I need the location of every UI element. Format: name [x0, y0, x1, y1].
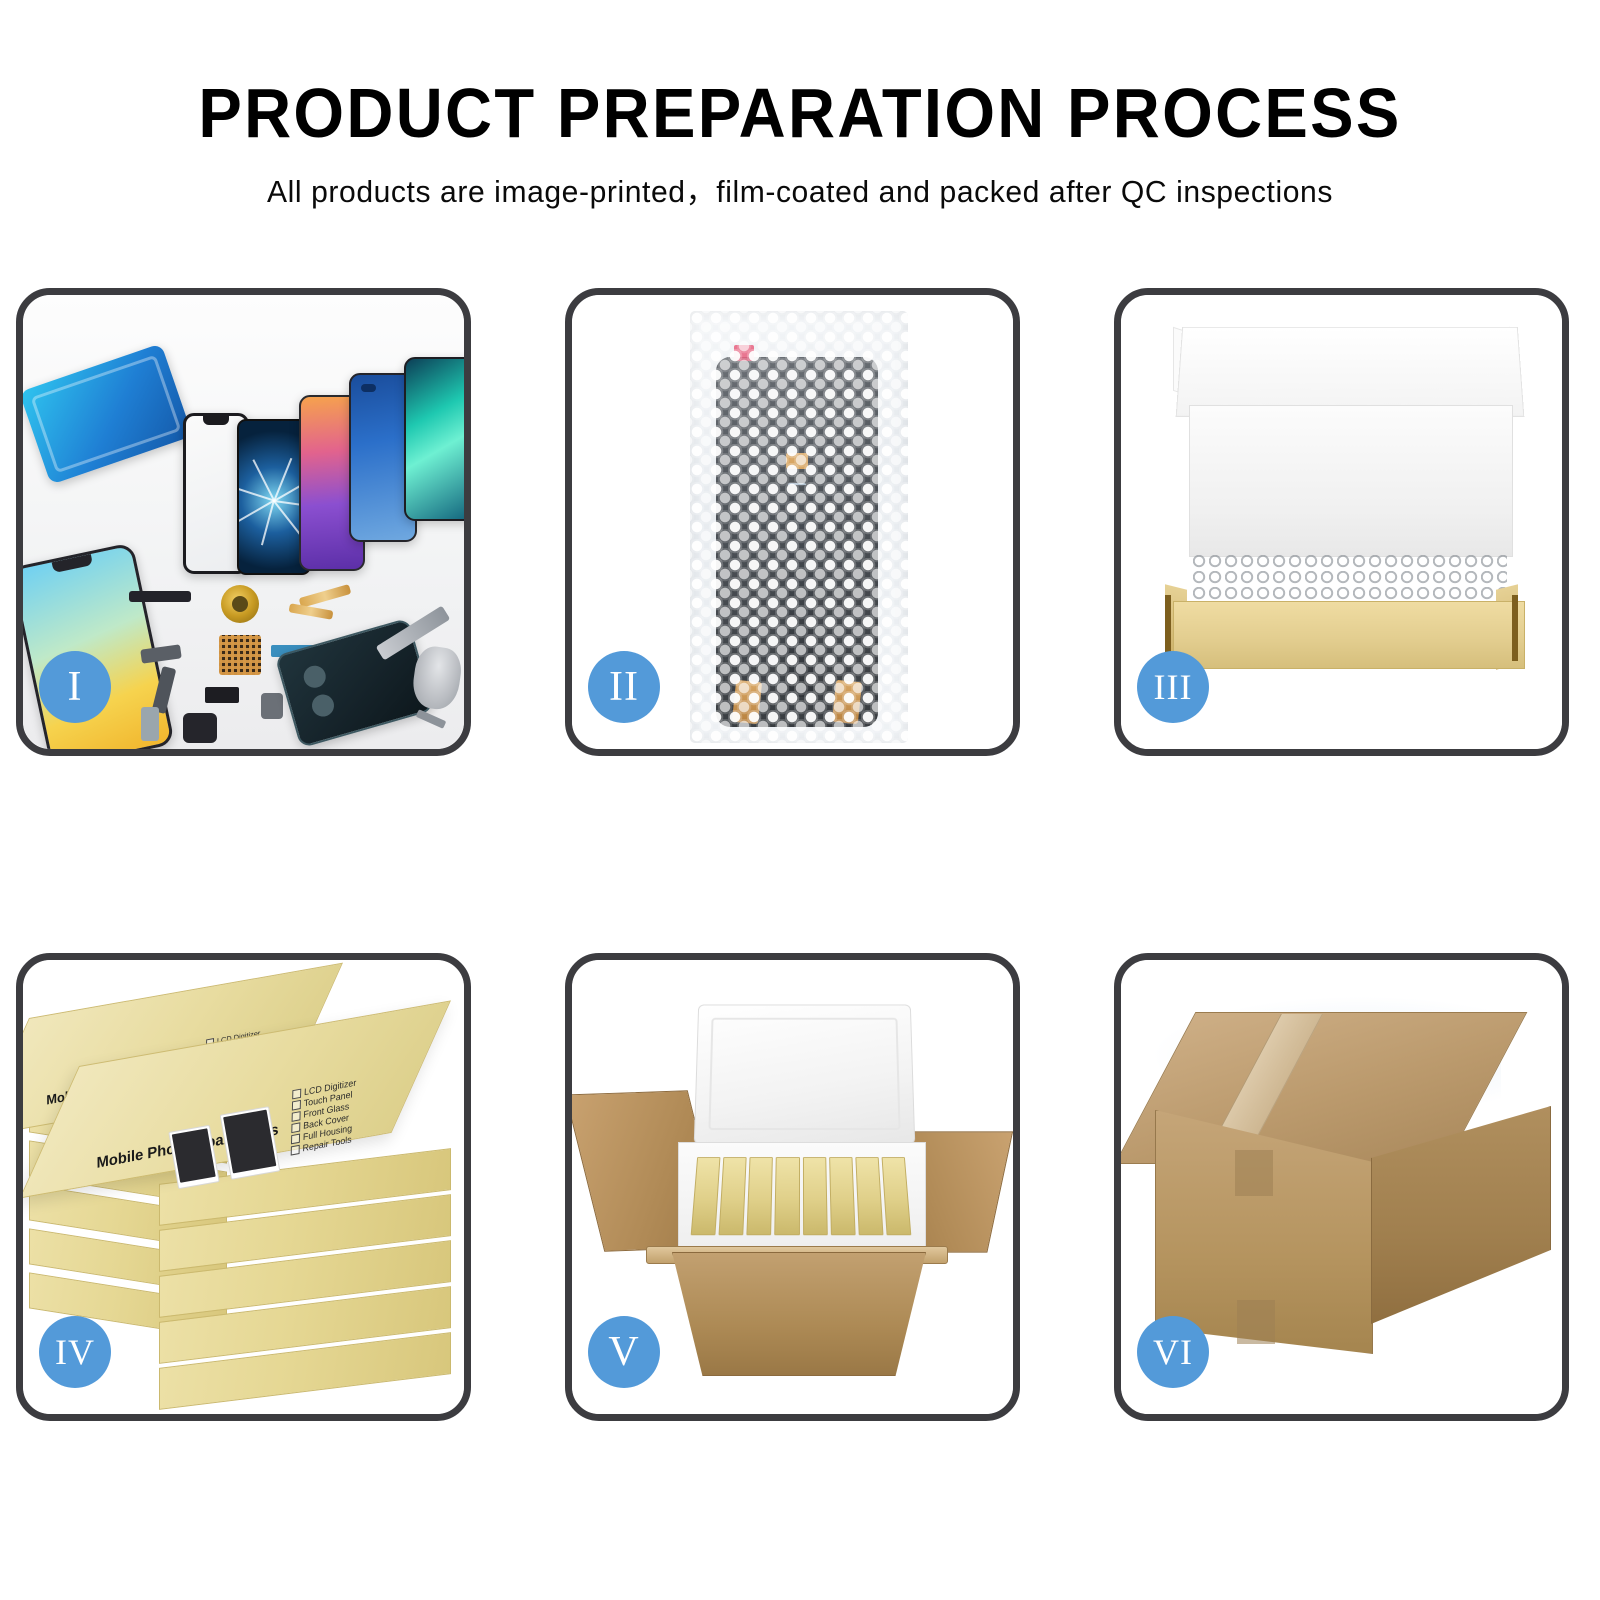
lcd-flex-strip: [787, 485, 813, 697]
mailer-lid-back: [1176, 327, 1525, 417]
retail-box-slot: [855, 1157, 883, 1235]
step-badge-3: III: [1137, 651, 1209, 723]
lcd-connector-top: [786, 453, 808, 469]
step-badge-6: VI: [1137, 1316, 1209, 1388]
step-panel-6[interactable]: VI: [1114, 953, 1569, 1421]
step-badge-5: V: [588, 1316, 660, 1388]
step-badge-1: I: [39, 651, 111, 723]
flex-cable-part-b: [289, 603, 334, 620]
retail-box-slot: [747, 1157, 774, 1235]
speaker-coil-part: [221, 585, 259, 623]
step-panel-2[interactable]: II: [565, 288, 1020, 756]
step-panel-4[interactable]: Mobile Phone Spare Parts LCD Digitizer T…: [16, 953, 471, 1421]
retail-box-slot: [802, 1157, 827, 1235]
lcd-flex-foot-right: [832, 680, 862, 724]
flex-cable-part-a: [299, 584, 352, 608]
retail-box-slot: [775, 1157, 800, 1235]
pink-qc-sticker: [734, 345, 754, 361]
gradient-phone-teal: [404, 357, 464, 521]
mailer-edge-right: [1512, 595, 1518, 661]
process-steps-grid: I II: [16, 288, 1584, 1468]
camera-module-part: [261, 693, 283, 719]
step-badge-2: II: [588, 651, 660, 723]
retail-box-checklist: LCD Digitizer Touch Panel Front Glass Ba…: [291, 1077, 357, 1156]
mailer-inner-white: [1189, 405, 1513, 557]
earpiece-mesh-part: [129, 591, 191, 602]
lcd-screen-assembly: [716, 357, 878, 727]
taptic-engine-part: [183, 713, 217, 743]
sim-tray-part: [141, 707, 159, 741]
step-panel-1[interactable]: I: [16, 288, 471, 756]
bubble-wrap-bag: [690, 311, 908, 743]
ic-chip-part: [219, 635, 261, 675]
retail-boxes-in-foam: [691, 1157, 912, 1235]
carton-seam-patch-bottom: [1237, 1300, 1275, 1344]
carton-body: [672, 1252, 926, 1376]
step-panel-3[interactable]: III: [1114, 288, 1569, 756]
page-subtitle: All products are image-printed，film-coat…: [24, 148, 1576, 207]
retail-box-slot: [719, 1157, 747, 1235]
foam-lid: [694, 1004, 916, 1144]
step-badge-4: IV: [39, 1316, 111, 1388]
adhesive-frame-part: [23, 343, 193, 484]
page-header: PRODUCT PREPARATION PROCESS All products…: [0, 0, 1600, 260]
tweezers-tool-icon: [416, 709, 447, 729]
lcd-flex-foot-left: [732, 680, 762, 724]
page-title: PRODUCT PREPARATION PROCESS: [56, 0, 1544, 148]
step-panel-5[interactable]: V: [565, 953, 1020, 1421]
retail-box-slot: [829, 1157, 856, 1235]
carton-seam-patch-top: [1235, 1150, 1273, 1196]
mailer-front-panel: [1173, 601, 1525, 669]
connector-part: [205, 687, 239, 703]
retail-box-slot: [691, 1157, 721, 1235]
